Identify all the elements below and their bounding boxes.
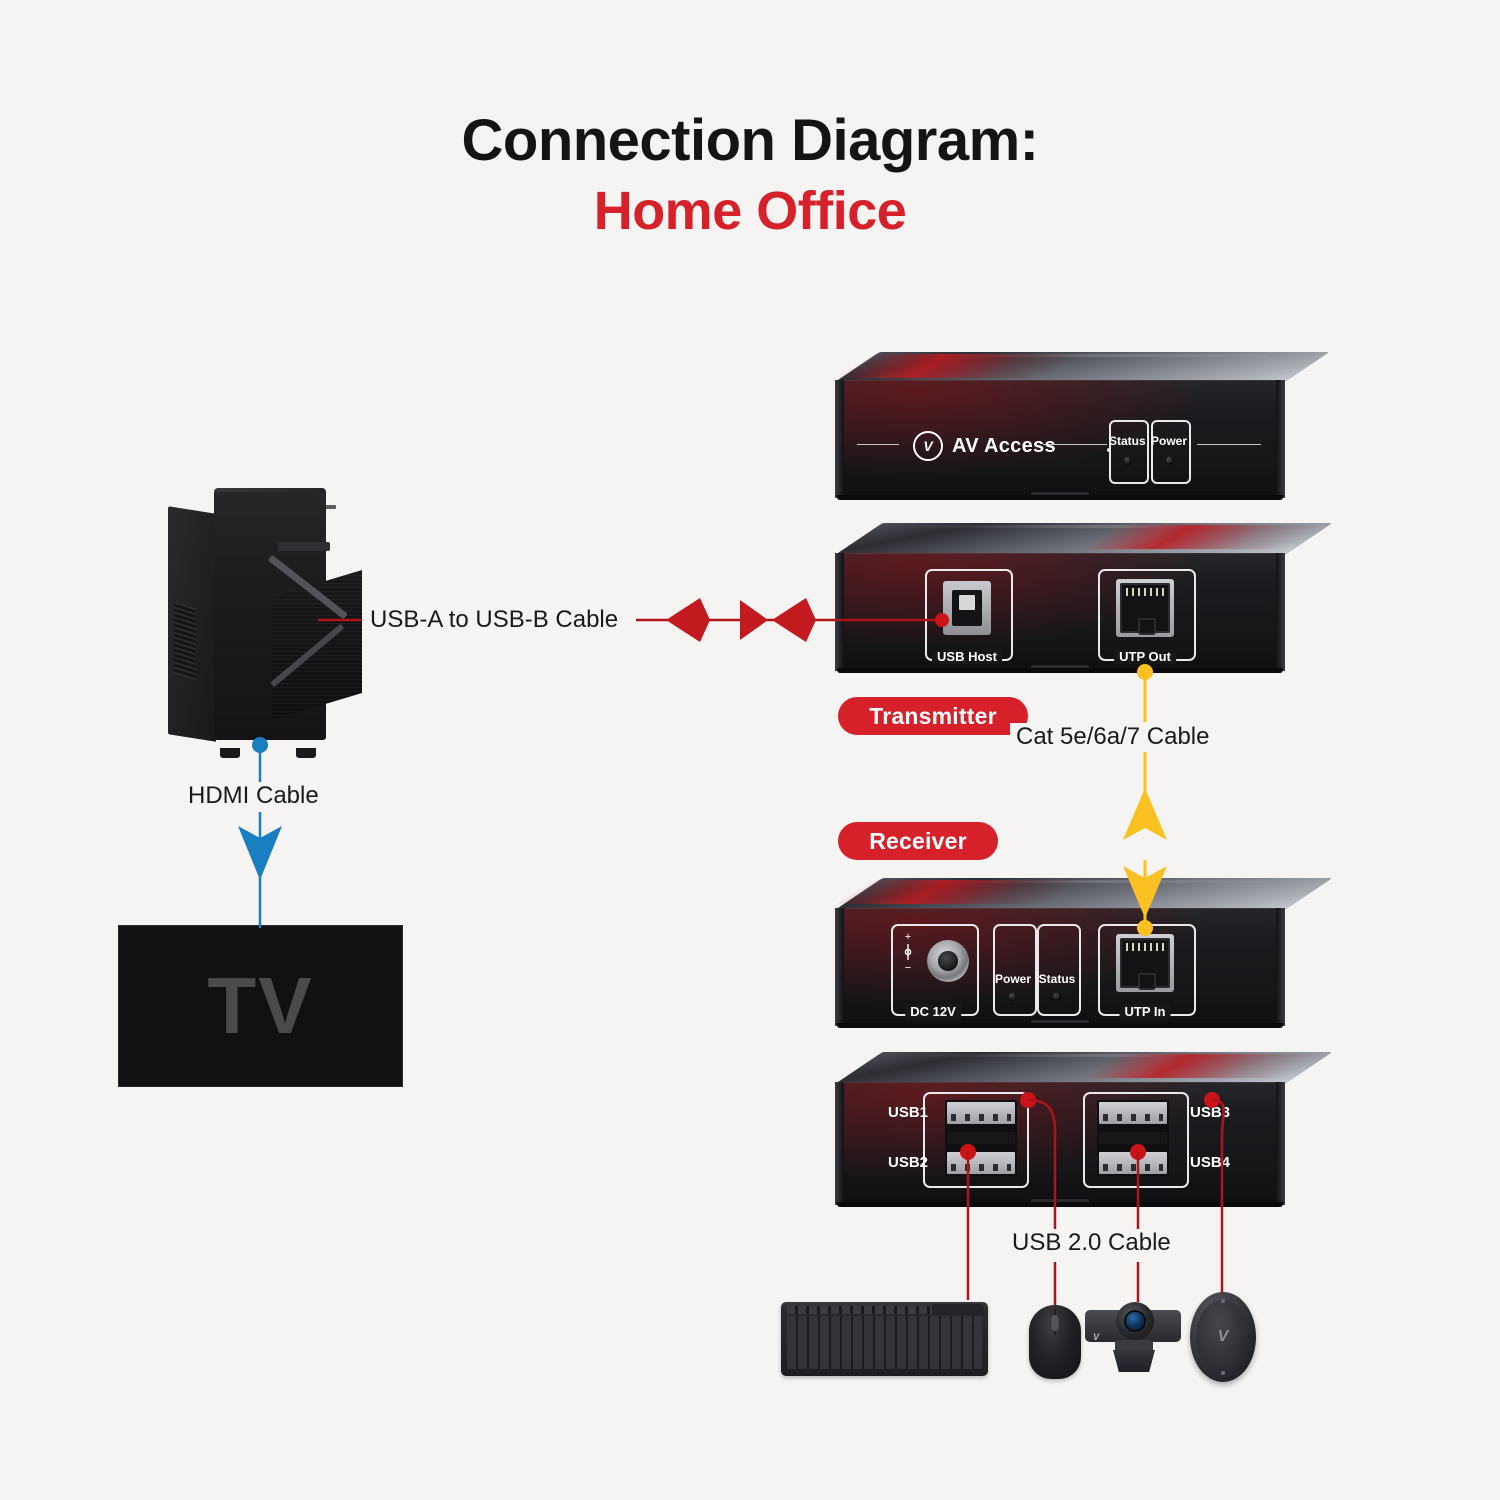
av-access-logo: V AV Access <box>913 431 1056 461</box>
device-top-face <box>835 352 1329 382</box>
receiver-power-frame <box>993 924 1037 1016</box>
rj45-in-pins <box>1126 943 1164 951</box>
utp-out-label: UTP Out <box>1114 649 1176 664</box>
usb-stack-a-divider <box>947 1132 1015 1145</box>
usb-stack-a[interactable] <box>945 1100 1017 1176</box>
mouse-scroll-wheel <box>1052 1315 1059 1331</box>
speakerphone-outer-ring: V <box>1190 1292 1256 1382</box>
transmitter-bottom-edge <box>837 668 1283 673</box>
dc-12v-label: DC 12V <box>905 1004 961 1019</box>
hub-top-face <box>835 1052 1332 1084</box>
logo-rule-mid <box>1043 444 1107 445</box>
rj45-in-inner <box>1120 938 1170 988</box>
keyboard <box>781 1302 988 1376</box>
usb1-label: USB1 <box>888 1104 928 1121</box>
cat-cable-label: Cat 5e/6a/7 Cable <box>1010 723 1215 751</box>
usb-port-usb1[interactable] <box>947 1102 1015 1124</box>
speakerphone-inner-disc: V <box>1196 1300 1250 1374</box>
receiver-top-face <box>835 878 1332 910</box>
tv-label: TV <box>207 960 313 1052</box>
usb-b-port[interactable] <box>943 581 991 635</box>
power-led <box>1165 456 1174 465</box>
dc-polarity-symbol: + − <box>897 932 919 975</box>
transmitter-top-face <box>835 523 1332 555</box>
transmitter-front-face <box>835 553 1285 671</box>
receiver-status-label: Status <box>1037 972 1077 986</box>
usb-ab-cable-label: USB-A to USB-B Cable <box>364 606 624 634</box>
webcam-foot <box>1113 1350 1155 1372</box>
usb-ab-arrow-left <box>740 600 768 640</box>
page-title: Connection Diagram: Home Office <box>0 112 1500 238</box>
webcam-lens <box>1126 1312 1144 1330</box>
speakerphone: V <box>1190 1292 1256 1382</box>
receiver-status-led <box>1052 992 1061 1001</box>
usb-port-usb3[interactable] <box>1099 1102 1167 1124</box>
keyboard-function-row <box>787 1306 937 1314</box>
logo-rule-left <box>857 444 899 445</box>
hdmi-arrow-down <box>238 826 282 880</box>
hub-top-stripe <box>920 1054 1275 1057</box>
hub-bottom-edge <box>837 1202 1283 1207</box>
receiver-badge: Receiver <box>838 822 998 860</box>
power-indicator-label: Power <box>1151 434 1187 448</box>
usb-stack-b-divider <box>1099 1132 1167 1145</box>
speakerphone-logo: V <box>1218 1328 1229 1346</box>
mouse <box>1029 1305 1081 1379</box>
usb3-label: USB3 <box>1190 1104 1230 1121</box>
rj45-out-pins <box>1126 588 1164 596</box>
usb4-label: USB4 <box>1190 1154 1230 1171</box>
usb2-label: USB2 <box>888 1154 928 1171</box>
tv-display: TV <box>118 925 403 1087</box>
status-indicator-frame <box>1109 420 1149 484</box>
rj45-out-port[interactable] <box>1116 579 1174 637</box>
receiver-status-frame <box>1037 924 1081 1016</box>
keyboard-brand-bar <box>932 1304 984 1315</box>
transmitter-left-edge <box>835 553 844 671</box>
hub-front-face <box>835 1082 1285 1205</box>
device-bottom-edge <box>837 495 1283 500</box>
pc-vent <box>174 601 196 680</box>
usb-port-usb4[interactable] <box>1099 1152 1167 1174</box>
transmitter-top-stripe <box>920 525 1275 528</box>
device-front-face <box>835 380 1285 498</box>
rj45-out-inner <box>1120 583 1170 633</box>
device-left-edge <box>835 380 844 498</box>
webcam-lens-ring <box>1116 1302 1154 1340</box>
transmitter-right-edge <box>1276 553 1285 671</box>
rj45-in-port[interactable] <box>1116 934 1174 992</box>
usb-port-usb2[interactable] <box>947 1152 1015 1174</box>
power-indicator-frame <box>1151 420 1191 484</box>
hdmi-cable-label: HDMI Cable <box>182 782 325 810</box>
pc-side-panel <box>168 506 216 742</box>
device-receiver: + − DC 12V Power Status UTP In <box>835 878 1285 1028</box>
status-indicator-label: Status <box>1109 434 1145 448</box>
hub-left-edge <box>835 1082 844 1205</box>
pc-foot-right <box>296 748 316 758</box>
logo-rule-right <box>1197 444 1261 445</box>
device-usb-hub: USB1 USB2 USB3 USB4 <box>835 1052 1285 1207</box>
webcam: V <box>1085 1300 1181 1378</box>
receiver-power-led <box>1008 992 1017 1001</box>
webcam-logo: V <box>1093 1332 1099 1342</box>
usb20-cable-label: USB 2.0 Cable <box>1006 1229 1177 1257</box>
usb-host-label: USB Host <box>932 649 1002 664</box>
av-logo-text: AV Access <box>952 435 1056 458</box>
receiver-left-edge <box>835 908 844 1026</box>
device-transmitter: USB Host UTP Out <box>835 523 1285 673</box>
speakerphone-led-bottom <box>1221 1371 1225 1375</box>
utp-in-label: UTP In <box>1120 1004 1171 1019</box>
usb-ab-arrow-right-head <box>772 598 816 642</box>
pc-drive-bay <box>278 542 330 551</box>
center-negative-icon <box>900 944 916 960</box>
pc-foot-left <box>220 748 240 758</box>
hub-right-edge <box>1276 1082 1285 1205</box>
status-led <box>1123 456 1132 465</box>
av-logo-mark: V <box>913 431 943 461</box>
pc-front-panel <box>214 492 326 740</box>
cat-arrow-up <box>1123 788 1167 840</box>
device-front-panel: V AV Access Status Power <box>835 352 1285 500</box>
pc-tower <box>168 488 328 750</box>
title-main: Connection Diagram: <box>0 112 1500 170</box>
receiver-right-edge <box>1276 908 1285 1026</box>
receiver-bottom-edge <box>837 1023 1283 1028</box>
receiver-power-label: Power <box>993 972 1033 986</box>
diagram-canvas: Connection Diagram: Home Office TV <box>0 0 1500 1500</box>
rj45-in-tab <box>1138 973 1156 990</box>
dc-power-jack[interactable] <box>927 940 969 982</box>
transmitter-badge: Transmitter <box>838 697 1028 735</box>
usb-b-port-inner <box>952 590 982 626</box>
usb-stack-b[interactable] <box>1097 1100 1169 1176</box>
device-right-edge <box>1276 380 1285 498</box>
device-top-stripe <box>917 354 1272 357</box>
keyboard-keys <box>787 1316 982 1369</box>
rj45-out-tab <box>1138 618 1156 635</box>
receiver-top-stripe <box>920 880 1275 883</box>
speakerphone-led-top <box>1221 1299 1225 1303</box>
usb-ab-arrow-left-tail <box>666 598 710 642</box>
title-subtitle: Home Office <box>0 184 1500 238</box>
